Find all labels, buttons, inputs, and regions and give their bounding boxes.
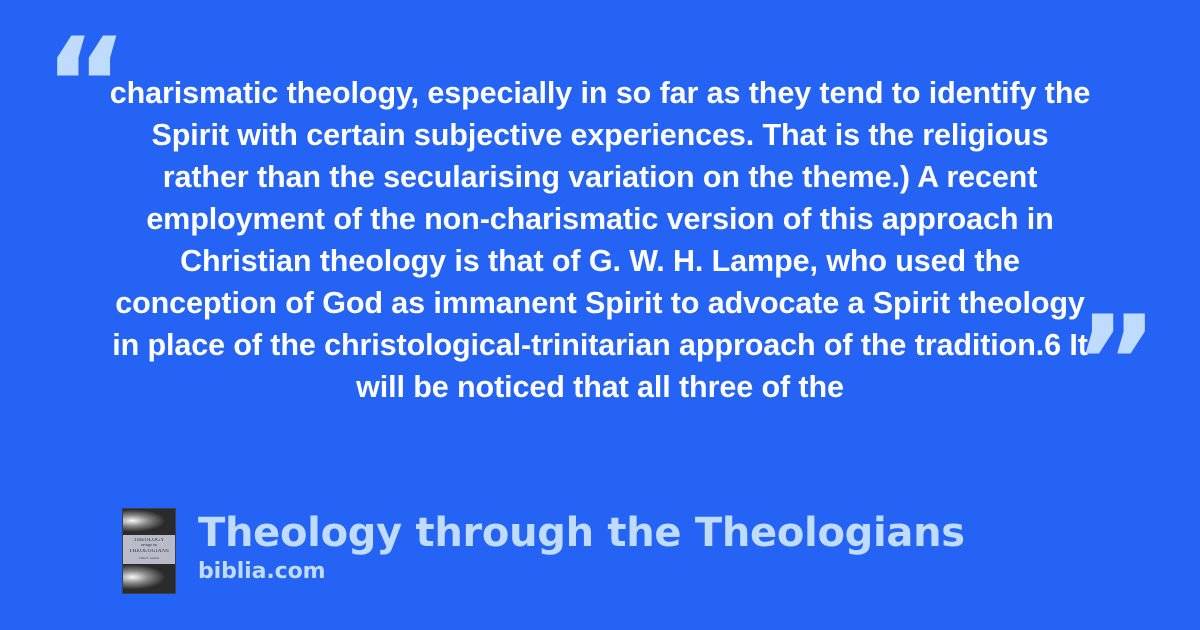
footer: THEOLOGY through the THEOLOGIANS Colin E…	[122, 508, 965, 594]
quote-body: charismatic theology, especially in so f…	[108, 72, 1092, 408]
cover-author: Colin E. Gunton	[125, 557, 173, 560]
cover-title-line-2: through the	[125, 544, 173, 548]
book-cover-thumbnail: THEOLOGY through the THEOLOGIANS Colin E…	[122, 508, 176, 594]
cover-photo-bottom	[123, 564, 175, 593]
quote-card: “ charismatic theology, especially in so…	[0, 0, 1200, 630]
footer-text-group: Theology through the Theologians biblia.…	[198, 508, 965, 586]
cover-title-line-1: THEOLOGY	[125, 538, 173, 544]
cover-title-band: THEOLOGY through the THEOLOGIANS Colin E…	[123, 535, 175, 564]
cover-title-line-3: THEOLOGIANS	[125, 549, 173, 555]
cover-photo-top	[123, 509, 175, 535]
site-name: biblia.com	[198, 558, 965, 586]
book-title: Theology through the Theologians	[198, 510, 965, 556]
quote-text: charismatic theology, especially in so f…	[108, 72, 1092, 408]
